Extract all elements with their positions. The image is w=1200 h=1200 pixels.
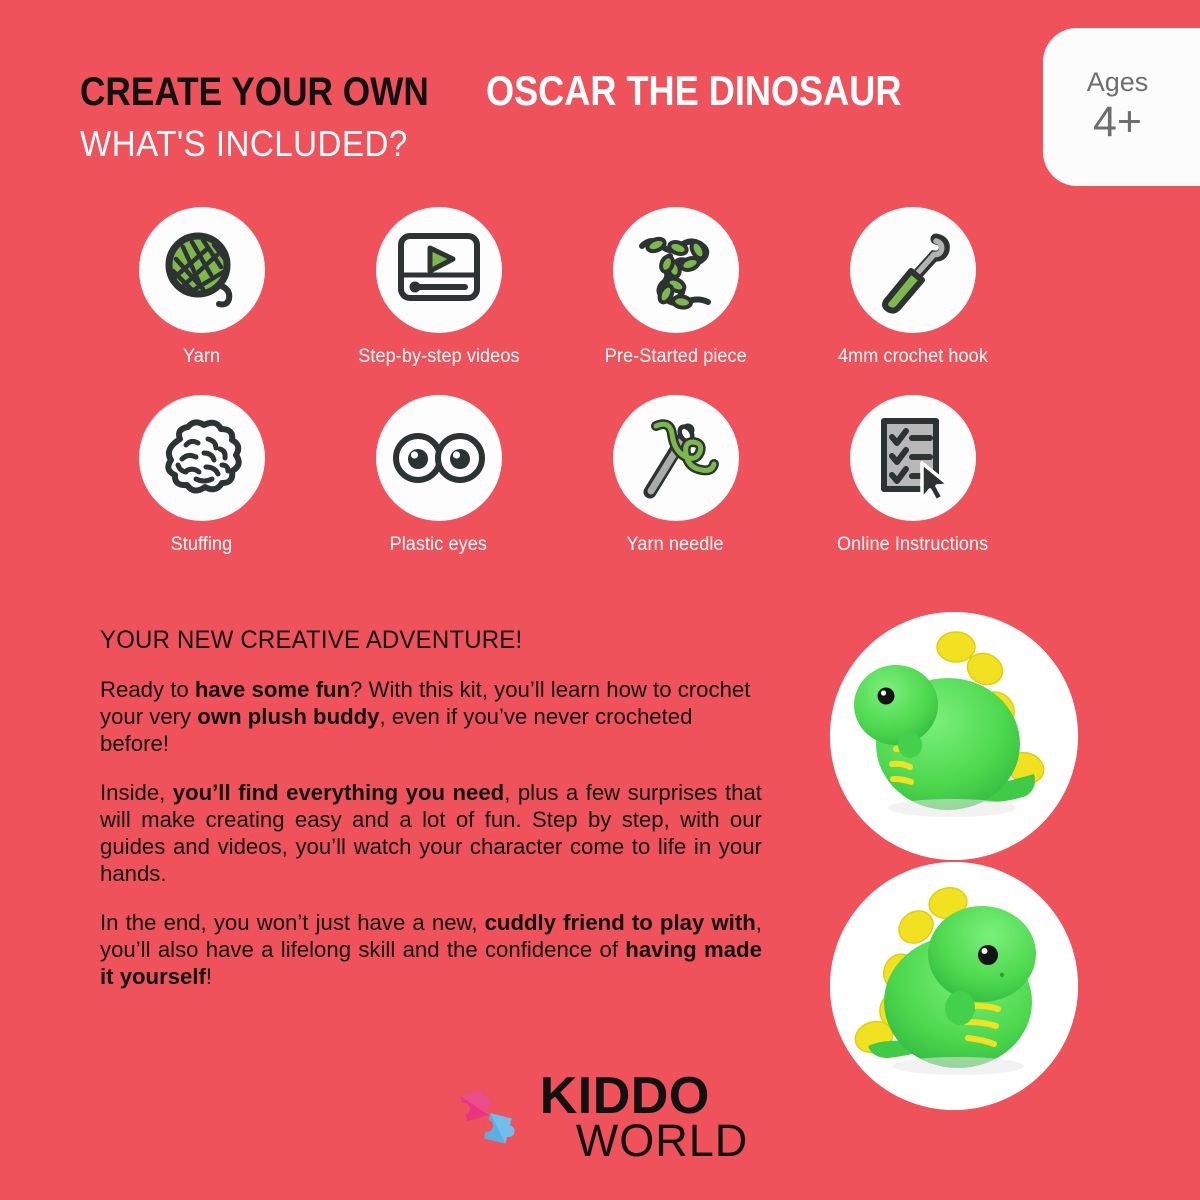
- title-product-name: OSCAR THE DINOSAUR: [486, 70, 901, 112]
- logo-kiddo: KIDDO: [540, 1072, 749, 1120]
- item-label: Yarn: [183, 346, 220, 368]
- icon-circle: [139, 207, 265, 333]
- p3-text-3: !: [206, 964, 212, 989]
- included-item-yarn: Yarn: [83, 207, 320, 395]
- p1-bold-2: own plush buddy: [197, 704, 379, 729]
- crochet-hook-icon: [868, 225, 958, 315]
- paragraph-2: Inside, you’ll find everything you need,…: [100, 780, 762, 887]
- included-item-videos: Step-by-step videos: [320, 207, 557, 395]
- stuffing-cloud-icon: [158, 417, 246, 499]
- p1-bold-1: have some fun: [195, 677, 350, 702]
- crochet-chain-icon: [630, 224, 722, 316]
- ages-badge: Ages 4+: [1043, 28, 1200, 186]
- icon-circle: [376, 395, 502, 521]
- puzzle-pieces-icon: [452, 1080, 526, 1154]
- icon-circle: [376, 207, 502, 333]
- icon-circle: [613, 207, 739, 333]
- ages-value: 4+: [1093, 100, 1142, 145]
- included-item-hook: 4mm crochet hook: [794, 207, 1031, 395]
- icon-circle: [139, 395, 265, 521]
- item-label: 4mm crochet hook: [837, 346, 987, 368]
- item-label: Step-by-step videos: [358, 346, 519, 368]
- yarn-needle-icon: [630, 412, 722, 504]
- description-section: YOUR NEW CREATIVE ADVENTURE! Ready to ha…: [100, 626, 772, 1014]
- included-item-prestarted: Pre-Started piece: [557, 207, 794, 395]
- title-create-your-own: CREATE YOUR OWN: [80, 72, 429, 112]
- item-label: Plastic eyes: [390, 534, 487, 556]
- p3-bold-1: cuddly friend to play with: [485, 910, 756, 935]
- included-item-stuffing: Stuffing: [83, 395, 320, 583]
- included-items-grid: Yarn Step-by-step videos: [83, 207, 1083, 583]
- item-label: Pre-Started piece: [604, 346, 746, 368]
- logo-world: WORLD: [576, 1120, 749, 1162]
- yarn-ball-icon: [159, 227, 245, 313]
- p2-text-1: Inside,: [100, 780, 173, 805]
- p3-text-1: In the end, you won’t just have a new,: [100, 910, 485, 935]
- brand-logo: KIDDO WORLD: [0, 1072, 1200, 1162]
- paragraph-3: In the end, you won’t just have a new, c…: [100, 910, 762, 990]
- p2-bold-1: you’ll find everything you need: [173, 780, 504, 805]
- item-label: Stuffing: [171, 534, 233, 556]
- checklist-cursor-icon: [870, 413, 956, 503]
- subtitle-whats-included: WHAT'S INCLUDED?: [80, 123, 408, 165]
- included-item-eyes: Plastic eyes: [320, 395, 557, 583]
- ages-label: Ages: [1087, 69, 1149, 96]
- icon-circle: [850, 395, 976, 521]
- product-photo-side-view: [830, 612, 1078, 860]
- item-label: Yarn needle: [627, 534, 724, 556]
- header: CREATE YOUR OWNOSCAR THE DINOSAUR WHAT'S…: [80, 70, 1040, 165]
- p1-text-1: Ready to: [100, 677, 195, 702]
- video-player-icon: [395, 230, 483, 310]
- included-item-needle: Yarn needle: [557, 395, 794, 583]
- included-item-instructions: Online Instructions: [794, 395, 1031, 583]
- paragraph-1: Ready to have some fun? With this kit, y…: [100, 677, 762, 757]
- section-heading: YOUR NEW CREATIVE ADVENTURE!: [100, 626, 745, 655]
- icon-circle: [850, 207, 976, 333]
- item-label: Online Instructions: [837, 534, 988, 556]
- crochet-dinosaur-side-illustration: [830, 612, 1078, 860]
- logo-text: KIDDO WORLD: [540, 1072, 749, 1162]
- icon-circle: [613, 395, 739, 521]
- plastic-eyes-icon: [393, 430, 485, 486]
- main-title: CREATE YOUR OWNOSCAR THE DINOSAUR: [80, 70, 1040, 112]
